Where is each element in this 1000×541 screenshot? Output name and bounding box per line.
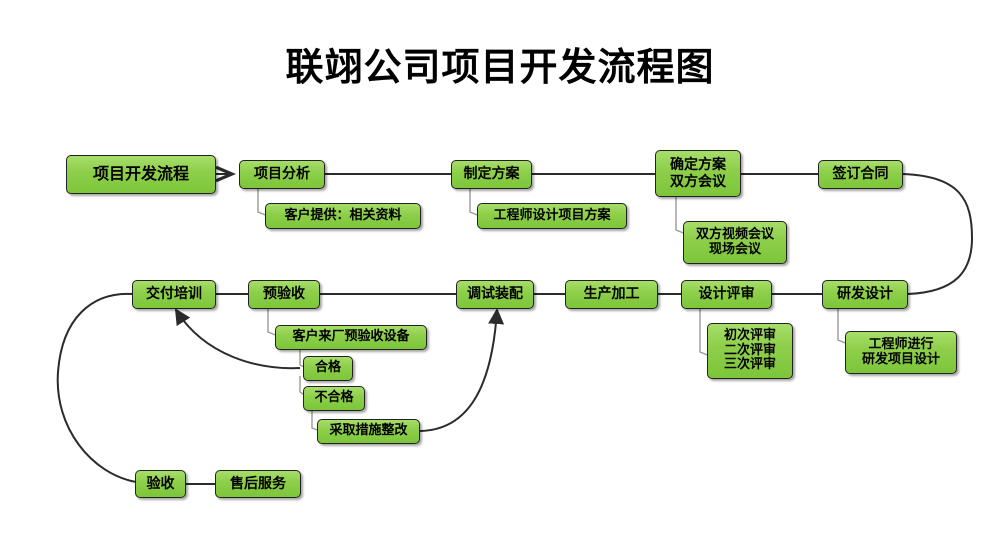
node-delivery-training[interactable]: 交付培训 [132, 280, 216, 309]
node-rd-design[interactable]: 研发设计 [822, 280, 908, 309]
node-video-onsite-meeting[interactable]: 双方视频会议 现场会议 [683, 221, 787, 264]
edge-measures-to-debug [420, 310, 497, 431]
connector-layer [0, 0, 1000, 541]
edge-contract-to-rd [903, 174, 972, 294]
node-debug-assembly[interactable]: 调试装配 [456, 280, 534, 309]
node-qualified[interactable]: 合格 [303, 356, 353, 381]
edge-delivery-to-acceptance [58, 294, 136, 482]
node-project-analysis[interactable]: 项目分析 [239, 160, 325, 189]
node-project-dev-process[interactable]: 项目开发流程 [66, 155, 216, 194]
node-make-plan[interactable]: 制定方案 [451, 160, 532, 189]
node-acceptance[interactable]: 验收 [135, 470, 186, 498]
node-client-materials[interactable]: 客户提供：相关资料 [265, 203, 421, 229]
node-production[interactable]: 生产加工 [565, 280, 658, 309]
node-design-review[interactable]: 设计评审 [681, 280, 772, 309]
node-after-sales[interactable]: 售后服务 [215, 470, 301, 498]
node-review-rounds[interactable]: 初次评审 二次评审 三次评审 [707, 323, 793, 379]
node-pre-acceptance[interactable]: 预验收 [248, 280, 320, 309]
node-take-measures[interactable]: 采取措施整改 [317, 419, 420, 444]
node-client-pre-acceptance[interactable]: 客户来厂预验收设备 [275, 325, 427, 350]
node-engineer-design-plan[interactable]: 工程师设计项目方案 [477, 203, 627, 229]
flowchart-canvas: 联翊公司项目开发流程图 [0, 0, 1000, 541]
node-confirm-plan-meeting[interactable]: 确定方案 双方会议 [655, 150, 741, 197]
node-unqualified[interactable]: 不合格 [303, 386, 365, 411]
node-engineer-rd-design[interactable]: 工程师进行 研发项目设计 [845, 331, 957, 374]
node-sign-contract[interactable]: 签订合同 [818, 160, 903, 189]
